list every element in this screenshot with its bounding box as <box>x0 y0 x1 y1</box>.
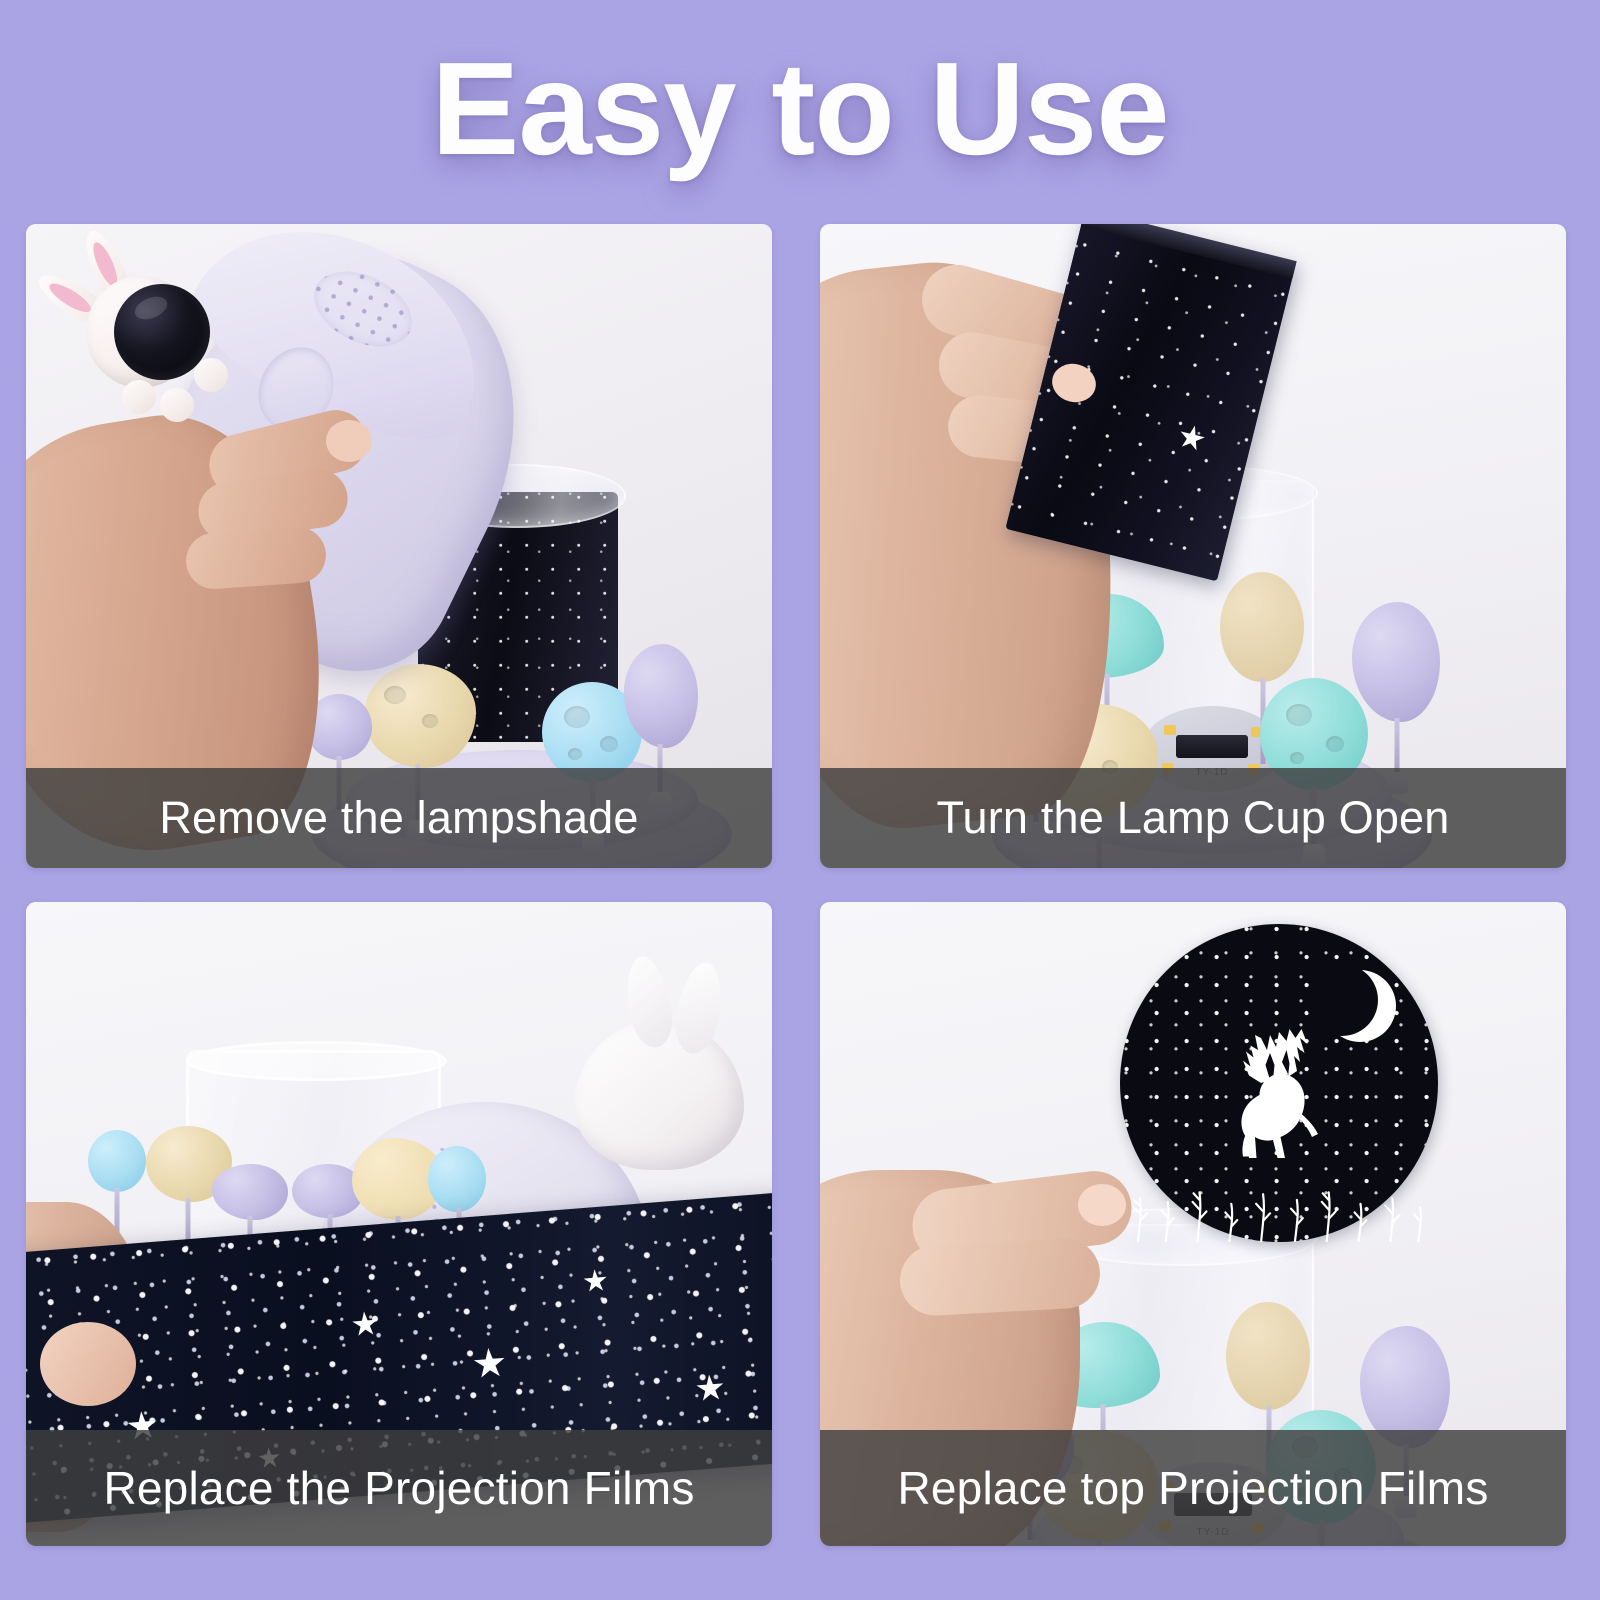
step-card-4[interactable]: TY-1D <box>820 902 1566 1546</box>
finger <box>184 525 328 591</box>
step-caption-2: Turn the Lamp Cup Open <box>820 768 1566 868</box>
step-card-1[interactable]: Remove the lampshade <box>26 224 772 868</box>
fingernail <box>1078 1184 1126 1226</box>
step-card-3[interactable]: Replace the Projection Films <box>26 902 772 1546</box>
film-disc-icon <box>1120 924 1438 1242</box>
bunny-astronaut-icon <box>64 246 254 436</box>
deer-icon <box>1204 1020 1354 1170</box>
step-card-2[interactable]: TY-1D <box>820 224 1566 868</box>
thumb <box>40 1322 136 1406</box>
step-caption-3: Replace the Projection Films <box>26 1430 772 1546</box>
step-caption-1: Remove the lampshade <box>26 768 772 868</box>
steps-grid: Remove the lampshade TY-1D <box>26 224 1566 1546</box>
step-caption-4: Replace top Projection Films <box>820 1430 1566 1546</box>
finger <box>898 1237 1101 1317</box>
grass-icon <box>1120 1156 1438 1242</box>
page-title: Easy to Use <box>0 40 1600 179</box>
star-icon <box>1176 422 1208 454</box>
fingernail <box>326 420 372 462</box>
